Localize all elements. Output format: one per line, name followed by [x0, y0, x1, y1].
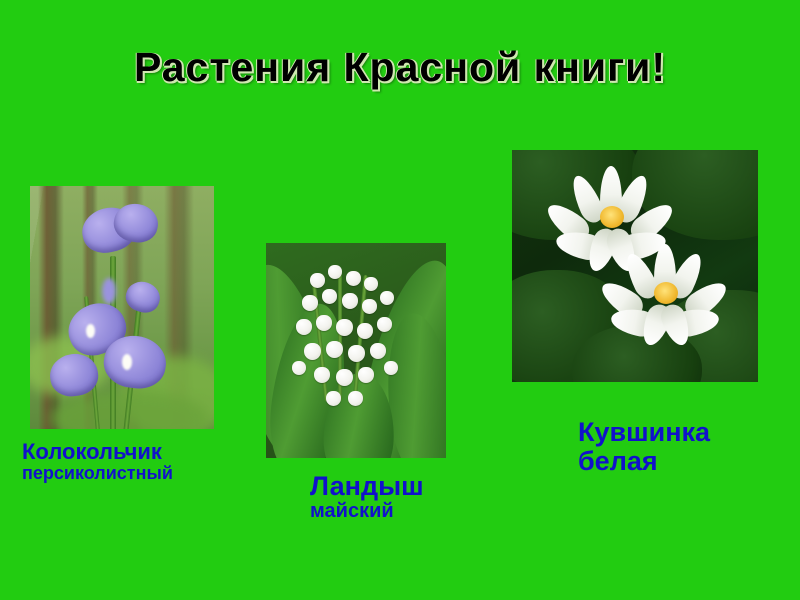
caption-lily: Ландыш майский	[310, 472, 530, 523]
bellflower-photo	[30, 186, 214, 429]
lily-of-the-valley-photo	[266, 243, 446, 458]
caption-lily-line1: Ландыш	[310, 472, 530, 501]
white-water-lily-photo	[512, 150, 758, 382]
caption-bellflower: Колокольчик персиколистный	[22, 440, 252, 483]
caption-waterlily-line2: белая	[578, 447, 793, 476]
caption-lily-line2: майский	[310, 501, 530, 523]
caption-bellflower-line1: Колокольчик	[22, 440, 252, 464]
slide-canvas: Растения Красной книги!	[0, 0, 800, 600]
caption-waterlily-line1: Кувшинка	[578, 418, 793, 447]
caption-waterlily: Кувшинка белая	[578, 418, 793, 476]
page-title: Растения Красной книги!	[0, 44, 800, 91]
caption-bellflower-line2: персиколистный	[22, 464, 252, 483]
